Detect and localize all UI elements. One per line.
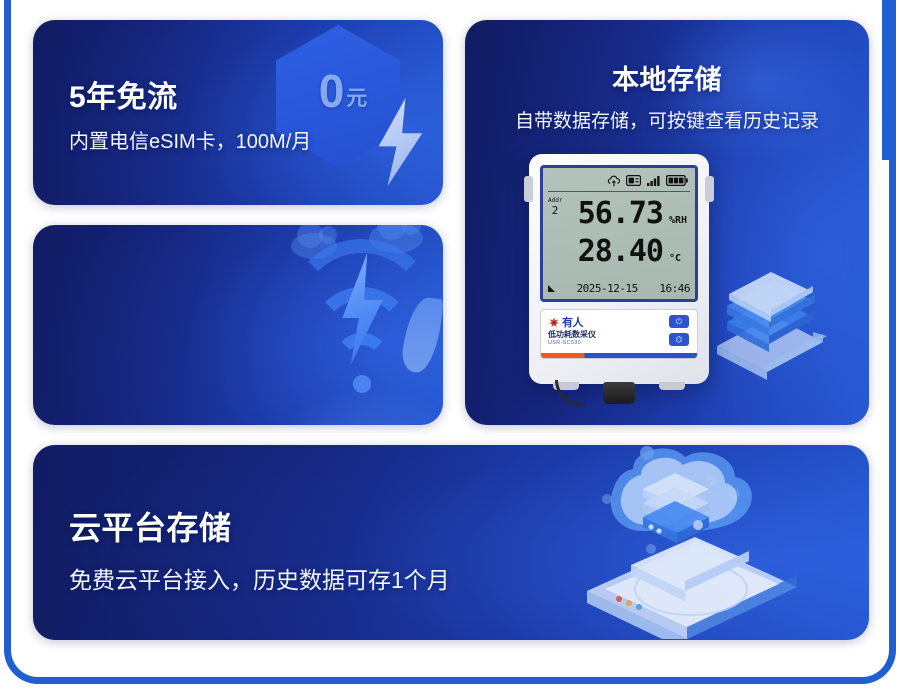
badge-value: 0 — [319, 65, 345, 117]
power-button[interactable]: ⏻ — [669, 315, 689, 328]
usr-logo-icon — [548, 316, 560, 328]
card-offline-cache[interactable]: 断网缓存 通信恢复后，自动续传已存数据 — [33, 225, 443, 425]
device-brand-panel: 有人 低功耗数采仪 USR-SC530 ⏻ ⌬ — [540, 309, 698, 359]
card-subheading: 自带数据存储，可按键查看历史记录 — [465, 106, 869, 133]
card-cloud-storage[interactable]: 云平台存储 免费云平台接入，历史数据可存1个月 — [33, 445, 869, 640]
lcd-inner: Addr 2 56.73 %RH 28.40 °C — [543, 168, 695, 299]
device-mount-ear-left — [524, 176, 533, 202]
card-local-storage[interactable]: 本地存储 自带数据存储，可按键查看历史记录 — [465, 20, 869, 425]
lcd-temperature-value: 28.40 — [559, 234, 663, 269]
sensor-cable — [555, 380, 585, 406]
lcd-divider — [548, 191, 690, 192]
cloud-server-icon — [559, 445, 827, 639]
battery-full-icon — [666, 175, 688, 186]
signal-bars-icon — [647, 175, 660, 186]
lcd-record-indicator-icon — [548, 285, 555, 292]
sim-card-icon — [626, 175, 641, 186]
wifi-dot — [353, 375, 371, 393]
device-foot-right — [659, 382, 685, 390]
lcd-status-bar — [543, 171, 695, 189]
lcd-time: 16:46 — [659, 282, 690, 295]
lcd-date: 2025-12-15 — [560, 282, 654, 295]
brand-lockup: 有人 — [548, 314, 583, 330]
card-local-storage-text: 本地存储 自带数据存储，可按键查看历史记录 — [465, 58, 869, 133]
frame-right-strip — [882, 0, 889, 160]
device-lcd-screen: Addr 2 56.73 %RH 28.40 °C — [540, 165, 698, 302]
card-free-data[interactable]: 0元 5年免流 内置电信eSIM卡，100M/月 — [33, 20, 443, 205]
device-model-number: USR-SC530 — [548, 340, 581, 346]
panel-accent-stripe — [541, 353, 697, 358]
card-heading: 云平台存储 — [69, 503, 450, 549]
card-heading: 5年免流 — [69, 72, 311, 116]
badge-unit: 元 — [346, 87, 367, 110]
card-cloud-storage-text: 云平台存储 免费云平台接入，历史数据可存1个月 — [69, 503, 450, 595]
lcd-datetime-bar: 2025-12-15 16:46 — [548, 282, 690, 295]
feature-card-grid: 0元 5年免流 内置电信eSIM卡，100M/月 断网 — [33, 20, 869, 640]
card-subheading: 内置电信eSIM卡，100M/月 — [69, 125, 311, 154]
set-button[interactable]: ⌬ — [669, 333, 689, 346]
set-button-glyph: ⌬ — [676, 335, 683, 344]
brand-name: 有人 — [562, 314, 583, 330]
lcd-humidity-row: 56.73 %RH — [559, 196, 698, 231]
frame-left-strip — [4, 0, 11, 160]
product-feature-page: 0元 5年免流 内置电信eSIM卡，100M/月 断网 — [0, 0, 900, 689]
sensor-connector — [603, 382, 635, 404]
card-free-data-text: 5年免流 内置电信eSIM卡，100M/月 — [69, 72, 311, 154]
lcd-temperature-unit: °C — [669, 253, 681, 264]
card-heading: 本地存储 — [465, 58, 869, 97]
server-stack-icon — [709, 272, 831, 384]
cloud-upload-icon — [607, 175, 620, 186]
device-product-name: 低功耗数采仪 — [548, 329, 596, 340]
lcd-humidity-unit: %RH — [669, 215, 687, 226]
device-mount-ear-right — [705, 176, 714, 202]
card-subheading: 免费云平台接入，历史数据可存1个月 — [69, 561, 450, 595]
power-button-glyph: ⏻ — [676, 317, 682, 327]
lcd-temperature-row: 28.40 °C — [559, 234, 698, 269]
data-logger-device: Addr 2 56.73 %RH 28.40 °C — [529, 154, 709, 384]
lcd-humidity-value: 56.73 — [559, 196, 663, 231]
